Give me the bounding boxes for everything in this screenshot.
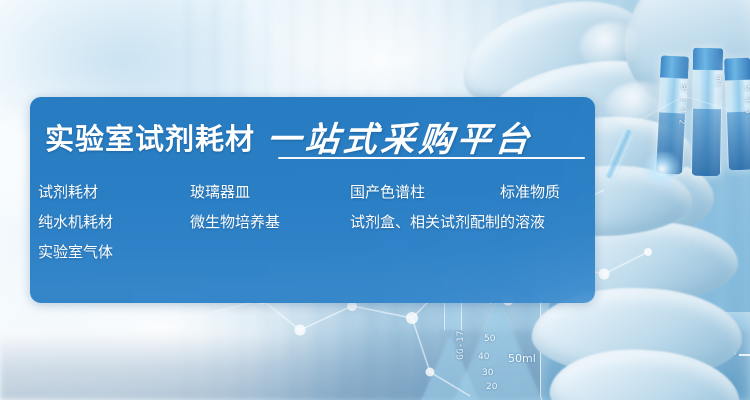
category-item-laboratory-gas[interactable]: 实验室气体: [38, 245, 190, 260]
category-item-reagent-kits-solutions[interactable]: 试剂盒、相关试剂配制的溶液: [350, 215, 545, 230]
vial-graduation-marks: ml: [694, 76, 723, 88]
vial-graduation-marks: 5 4 3: [727, 85, 750, 115]
vial-cap: [693, 48, 723, 71]
vial-cap: [660, 55, 689, 78]
glove-knuckle-highlight: [580, 22, 644, 72]
category-row: 试剂耗材 玻璃器皿 国产色谱柱 标准物质: [38, 177, 589, 207]
vial-graduation-marks: 8 6 4 2: [660, 83, 690, 125]
category-item-glassware[interactable]: 玻璃器皿: [190, 185, 350, 200]
category-row: 纯水机耗材 微生物培养基 试剂盒、相关试剂配制的溶液: [38, 207, 589, 237]
category-row: 实验室气体: [38, 237, 589, 267]
vial-fluid: [692, 109, 721, 176]
category-item-microbial-culture-media[interactable]: 微生物培养基: [190, 215, 350, 230]
category-item-reference-material[interactable]: 标准物质: [500, 185, 560, 200]
category-item-water-purifier-consumables[interactable]: 纯水机耗材: [38, 215, 190, 230]
lab-reagent-banner: GG-17 250ml 250 APPROX 200 150 100 50 sl…: [0, 0, 750, 400]
title-underline: [278, 157, 585, 159]
promo-panel: 实验室试剂耗材 一站式采购平台 试剂耗材 玻璃器皿 国产色谱柱 标准物质 纯水机…: [30, 97, 595, 303]
category-item-reagent-consumables[interactable]: 试剂耗材: [38, 185, 190, 200]
vial-fluid: [727, 111, 750, 170]
cryovial-icon: 5 4 3: [724, 58, 750, 171]
vial-cap: [724, 58, 750, 81]
title-subheading-script: 一站式采购平台: [266, 123, 535, 157]
category-item-domestic-chromatography-column[interactable]: 国产色谱柱: [350, 185, 500, 200]
cryovial-icon: ml: [691, 48, 723, 177]
flask-brand-tag: GG-17: [456, 330, 466, 360]
page-title: 实验室试剂耗材: [45, 126, 255, 155]
category-grid: 试剂耗材 玻璃器皿 国产色谱柱 标准物质 纯水机耗材 微生物培养基 试剂盒、相关…: [38, 177, 589, 267]
light-glow-highlight: [640, 152, 684, 186]
